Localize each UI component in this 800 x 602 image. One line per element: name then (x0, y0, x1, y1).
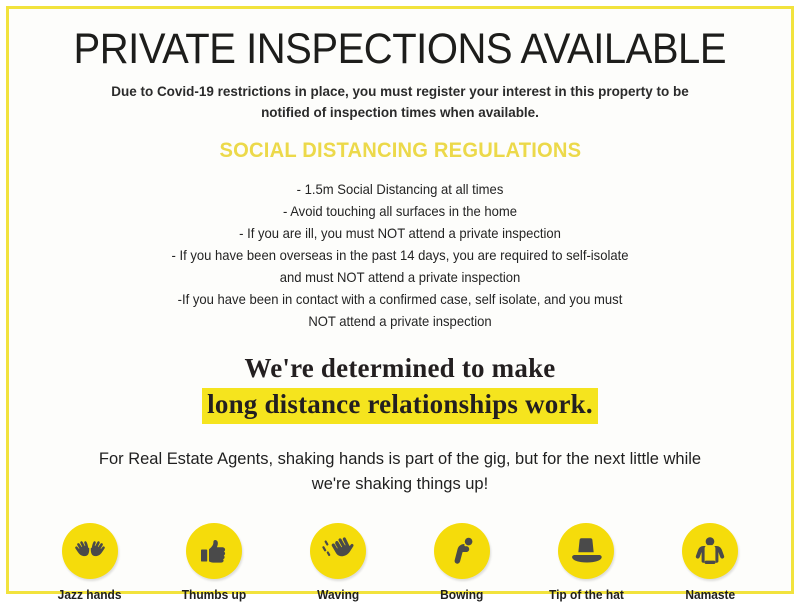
slogan-line-1: We're determined to make (202, 353, 598, 385)
closing-paragraph: For Real Estate Agents, shaking hands is… (90, 446, 711, 497)
rules-list: - 1.5m Social Distancing at all times - … (60, 179, 740, 333)
slogan-line-2-highlighted: long distance relationships work. (202, 388, 598, 424)
greeting-label: Tip of the hat (549, 588, 624, 602)
rule-item: - Avoid touching all surfaces in the hom… (74, 201, 727, 223)
greeting-item-waving: Waving (295, 523, 381, 602)
greeting-item-tip-of-the-hat: Tip of the hat (543, 523, 629, 602)
greeting-label: Waving (317, 588, 359, 602)
greeting-item-thumbs-up: Thumbs up (171, 523, 257, 602)
greeting-item-namaste: Namaste (667, 523, 753, 602)
greeting-label: Jazz hands (58, 588, 122, 602)
rule-item: - If you are ill, you must NOT attend a … (74, 223, 727, 245)
top-hat-icon (558, 523, 614, 579)
greeting-label: Bowing (440, 588, 483, 602)
rule-item: - 1.5m Social Distancing at all times (74, 179, 727, 201)
rule-item: NOT attend a private inspection (74, 311, 727, 333)
rule-item: -If you have been in contact with a conf… (74, 289, 727, 311)
greeting-icon-row: Jazz hands Thumbs up (9, 523, 791, 602)
greeting-item-jazz-hands: Jazz hands (47, 523, 133, 602)
thumbs-up-icon (186, 523, 242, 579)
page-title: PRIVATE INSPECTIONS AVAILABLE (74, 27, 726, 72)
section-title-social-distancing: SOCIAL DISTANCING REGULATIONS (219, 139, 581, 163)
greeting-item-bowing: Bowing (419, 523, 505, 602)
bowing-person-icon (434, 523, 490, 579)
rule-item: and must NOT attend a private inspection (74, 267, 727, 289)
jazz-hands-icon (62, 523, 118, 579)
intro-paragraph: Due to Covid-19 restrictions in place, y… (87, 82, 714, 125)
slogan: We're determined to make long distance r… (202, 353, 598, 424)
greeting-label: Namaste (685, 588, 735, 602)
waving-hand-icon (310, 523, 366, 579)
rule-item: - If you have been overseas in the past … (74, 245, 727, 267)
namaste-icon (682, 523, 738, 579)
poster-root: PRIVATE INSPECTIONS AVAILABLE Due to Cov… (0, 0, 800, 600)
poster-frame: PRIVATE INSPECTIONS AVAILABLE Due to Cov… (6, 6, 794, 594)
greeting-label: Thumbs up (182, 588, 246, 602)
